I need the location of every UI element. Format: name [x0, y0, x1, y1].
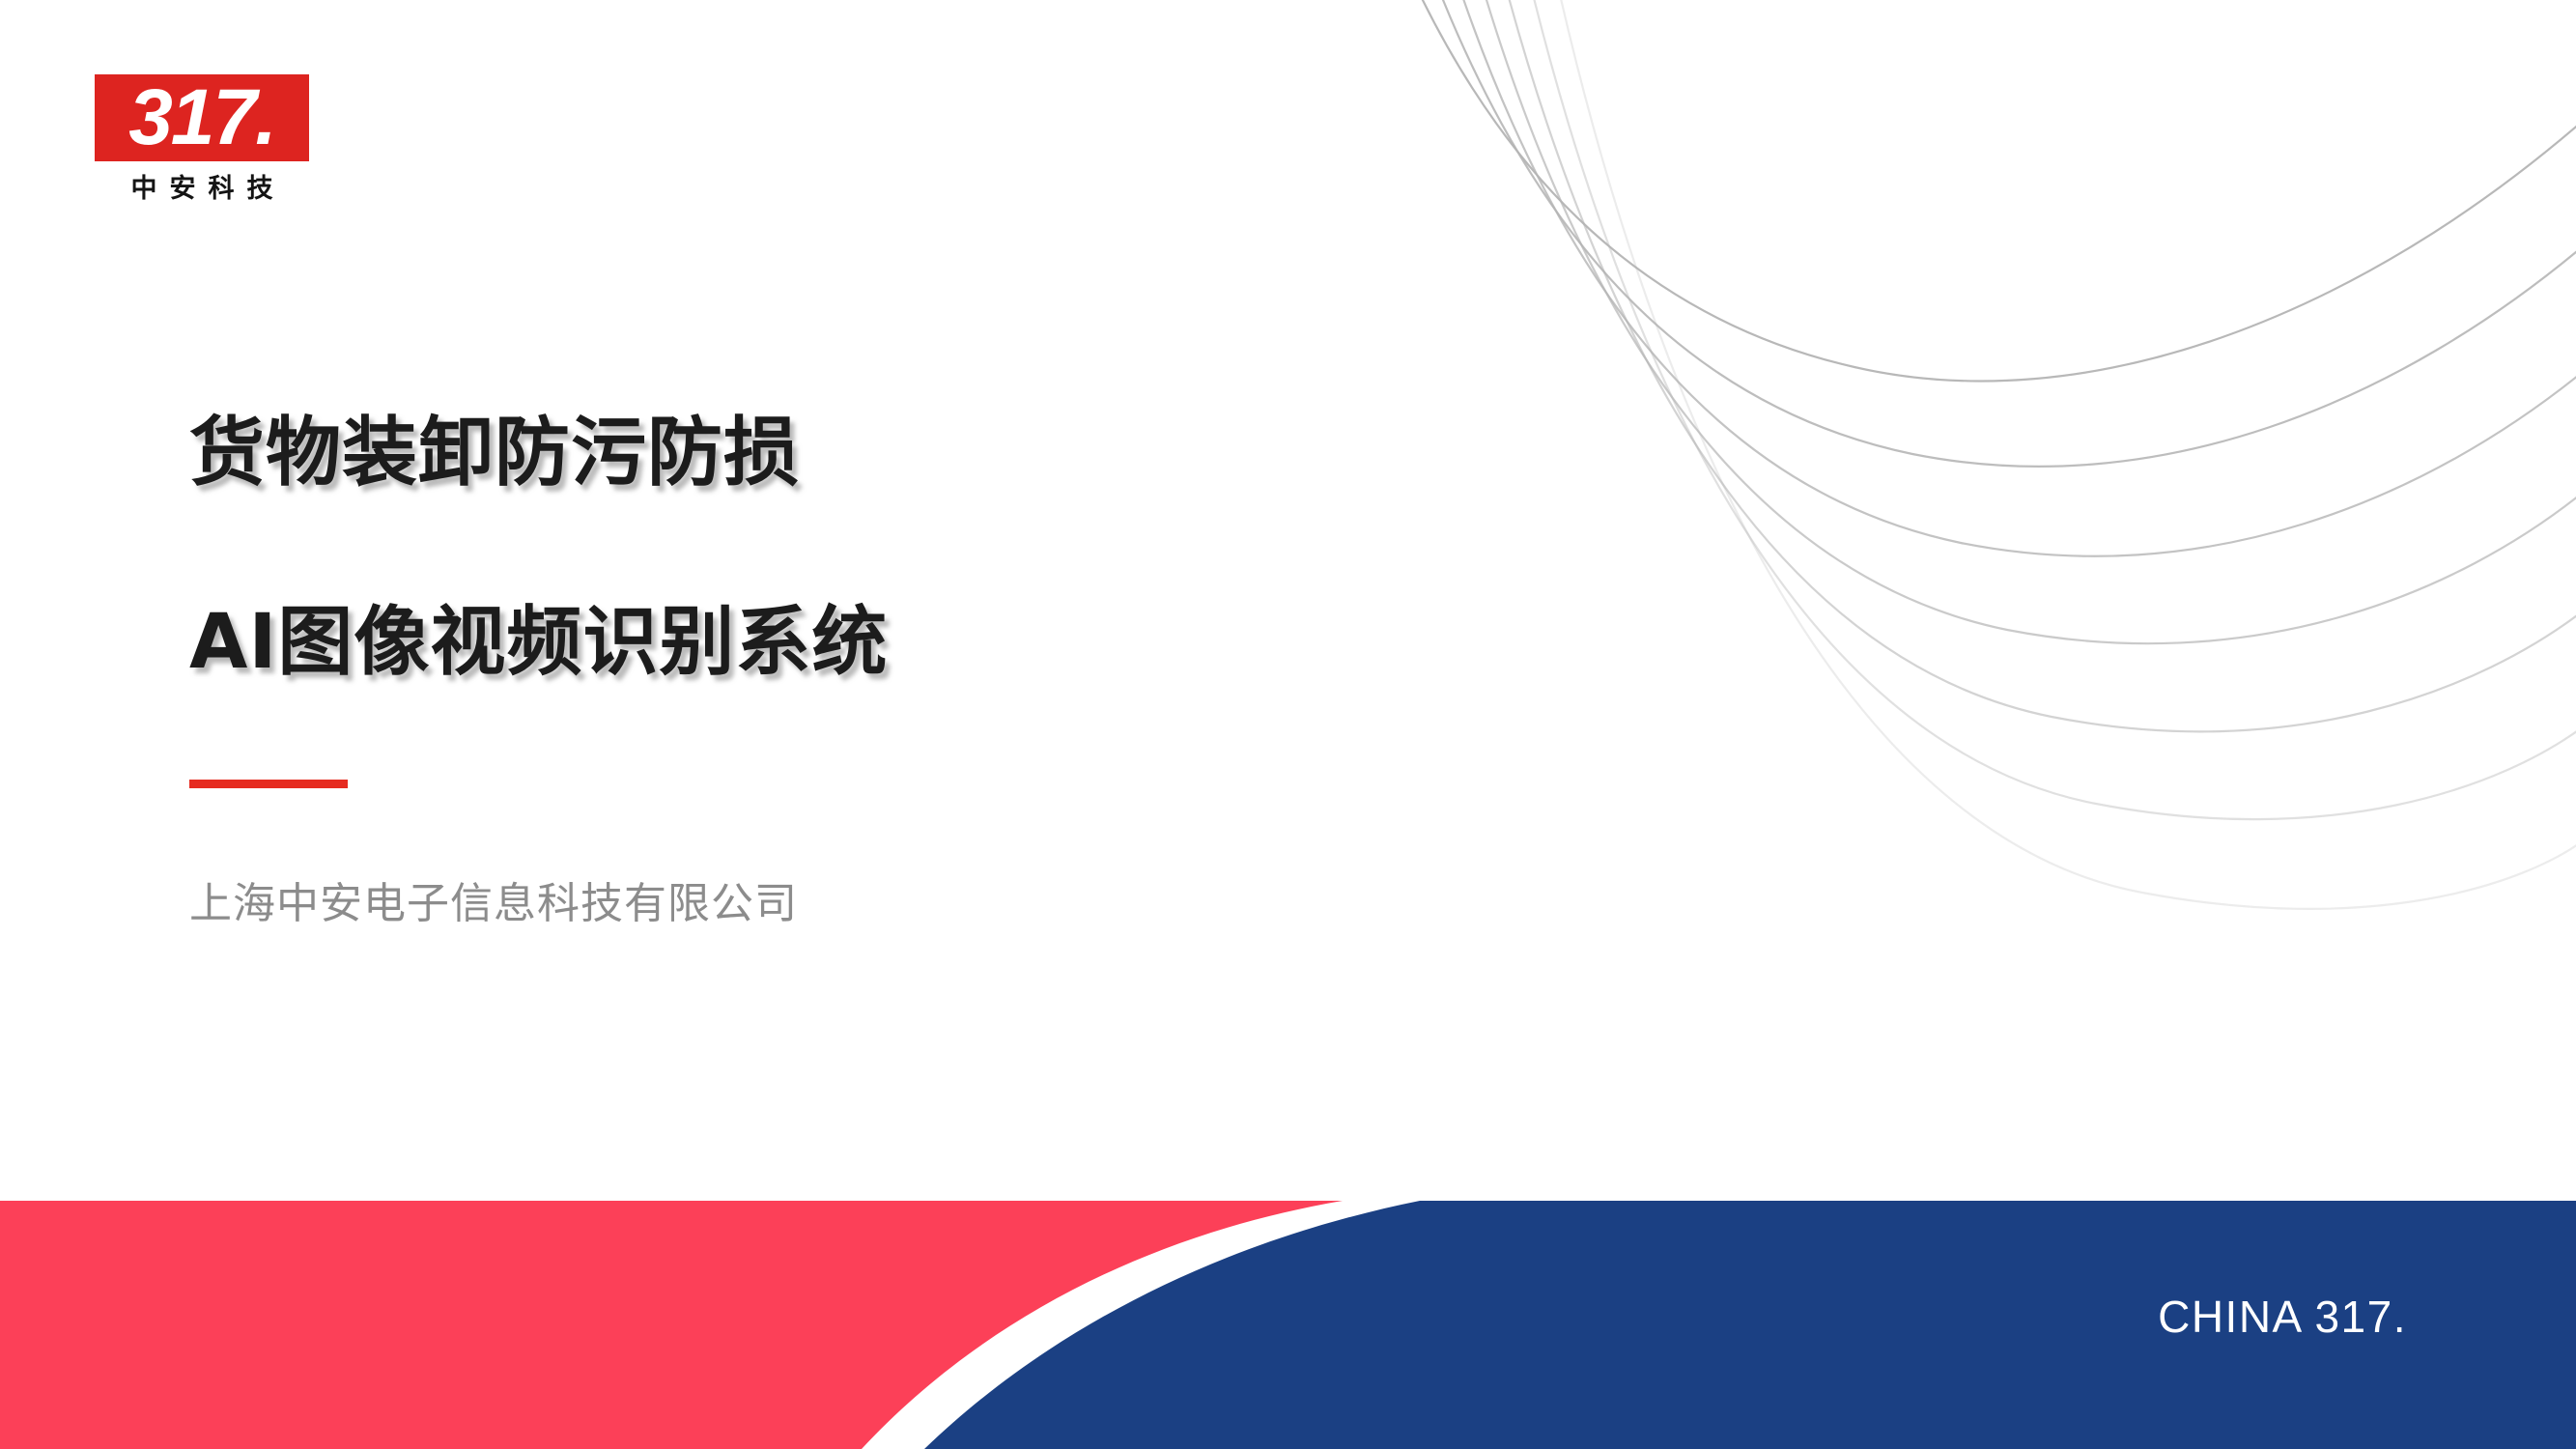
footer-band: CHINA 317.: [0, 1201, 2576, 1449]
logo-mark-317: 317.: [95, 74, 309, 161]
footer-brand-text: CHINA 317.: [2158, 1292, 2407, 1342]
title-divider-rule: [189, 780, 348, 788]
logo-company-short-name: 中安科技: [95, 175, 309, 204]
slide-canvas: 317. 中安科技 货物装卸防污防损 AI图像视频识别系统 上海中安电子信息科技…: [0, 0, 2576, 1449]
title-line-2: AI图像视频识别系统: [189, 590, 1348, 695]
page-title: 货物装卸防污防损 AI图像视频识别系统: [189, 401, 1348, 695]
logo-mark-text: 317.: [95, 78, 309, 157]
title-line-1: 货物装卸防污防损: [189, 401, 1348, 505]
company-logo: 317. 中安科技: [95, 74, 309, 204]
subtitle-company-name: 上海中安电子信息科技有限公司: [189, 877, 798, 931]
